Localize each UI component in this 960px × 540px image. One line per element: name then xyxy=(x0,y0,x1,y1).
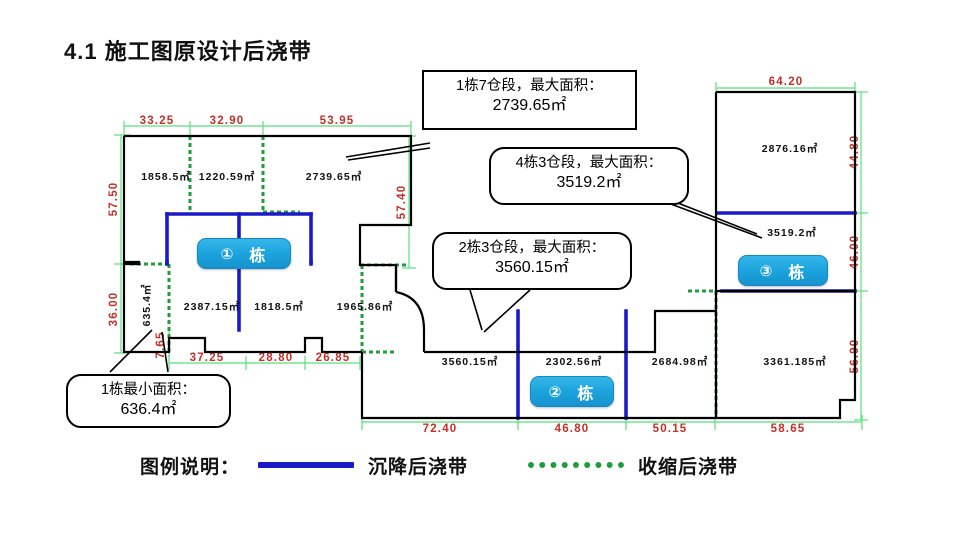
legend-swatch-shrinkage-joint xyxy=(528,462,624,468)
dim-50-15: 50.15 xyxy=(653,423,688,435)
dim-57-50: 57.50 xyxy=(108,182,120,217)
area-1965-86: 1965.86㎡ xyxy=(337,300,393,313)
area-2684-98: 2684.98㎡ xyxy=(652,355,708,368)
building-3-badge[interactable]: ③ 栋 xyxy=(738,255,828,286)
area-3519-2: 3519.2㎡ xyxy=(767,226,817,239)
dim-36-00: 36.00 xyxy=(108,292,120,327)
callout-b4-zone3[interactable]: 4栋3仓段，最大面积： 3519.2㎡ xyxy=(489,147,689,205)
area-3560-15: 3560.15㎡ xyxy=(442,355,498,368)
building-2-badge[interactable]: ② 栋 xyxy=(530,376,614,407)
dim-64-20: 64.20 xyxy=(769,76,804,88)
legend-title: 图例说明： xyxy=(140,452,240,479)
callout-b1-zone7-line2: 2739.65㎡ xyxy=(432,96,627,116)
callout-b2-zone3[interactable]: 2栋3仓段，最大面积： 3560.15㎡ xyxy=(432,232,632,290)
building-3-number: ③ xyxy=(760,262,775,280)
area-3361-185: 3361.185㎡ xyxy=(763,355,826,368)
area-1858-5: 1858.5㎡ xyxy=(141,170,191,183)
area-2876-16: 2876.16㎡ xyxy=(762,142,818,155)
dim-58-65: 58.65 xyxy=(771,423,806,435)
callout-b1-min-line2: 636.4㎡ xyxy=(76,400,221,420)
building-1-number: ① xyxy=(221,245,236,263)
area-2387-15: 2387.15㎡ xyxy=(184,300,240,313)
area-2739-65: 2739.65㎡ xyxy=(306,170,362,183)
callout-b2-zone3-line1: 2栋3仓段，最大面积： xyxy=(442,239,622,258)
dim-28-80: 28.80 xyxy=(259,352,294,364)
dim-72-40: 72.40 xyxy=(423,423,458,435)
callout-b1-min[interactable]: 1栋最小面积： 636.4㎡ xyxy=(66,374,231,428)
callout-b1-min-line1: 1栋最小面积： xyxy=(76,381,221,400)
building-2-number: ② xyxy=(549,383,564,401)
callout-b2-zone3-line2: 3560.15㎡ xyxy=(442,258,622,278)
area-1818-5: 1818.5㎡ xyxy=(254,300,304,313)
callout-b4-zone3-line2: 3519.2㎡ xyxy=(499,173,679,193)
area-635-4: 635.4㎡ xyxy=(140,284,153,327)
dim-53-95: 53.95 xyxy=(320,115,355,127)
dim-46-80: 46.80 xyxy=(555,423,590,435)
legend-swatch-settlement-joint xyxy=(258,462,354,468)
dim-57-40: 57.40 xyxy=(396,185,408,220)
callout-b1-zone7[interactable]: 1栋7仓段，最大面积： 2739.65㎡ xyxy=(422,70,637,130)
building-1-label: 栋 xyxy=(249,242,267,266)
dim-37-25: 37.25 xyxy=(190,352,225,364)
dim-32-90: 32.90 xyxy=(210,115,245,127)
area-2302-56: 2302.56㎡ xyxy=(546,355,602,368)
dim-26-85: 26.85 xyxy=(316,352,351,364)
building-1-badge[interactable]: ① 栋 xyxy=(197,238,291,269)
building-2-label: 栋 xyxy=(577,380,595,404)
legend: 图例说明： 沉降后浇带 收缩后浇带 xyxy=(140,448,800,482)
legend-label-shrinkage-joint: 收缩后浇带 xyxy=(638,452,738,479)
callout-b4-zone3-line1: 4栋3仓段，最大面积： xyxy=(499,154,679,173)
area-1220-59: 1220.59㎡ xyxy=(199,170,255,183)
legend-label-settlement-joint: 沉降后浇带 xyxy=(368,452,468,479)
callout-b1-zone7-line1: 1栋7仓段，最大面积： xyxy=(432,77,627,96)
dim-33-25: 33.25 xyxy=(140,115,175,127)
building-3-label: 栋 xyxy=(788,259,806,283)
